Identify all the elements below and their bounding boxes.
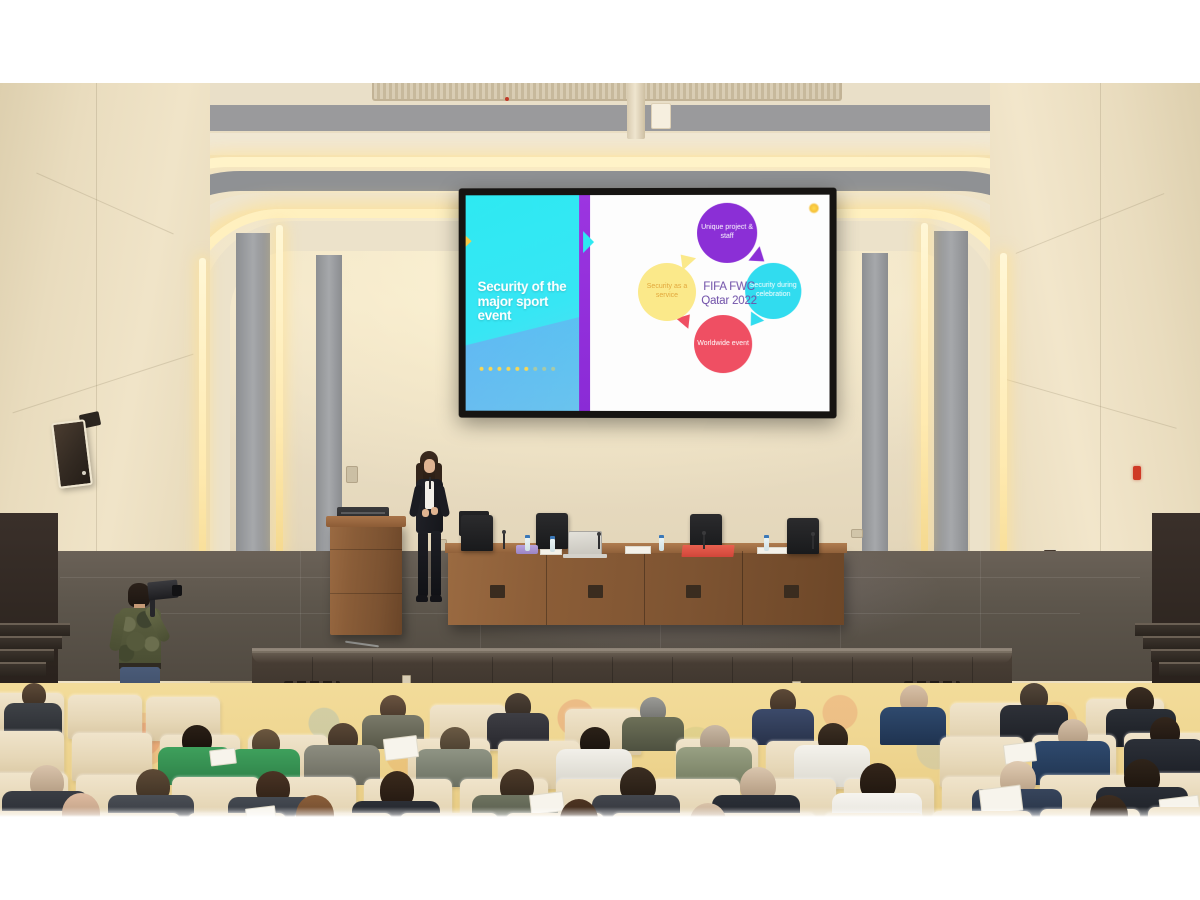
- mic-head-3-icon: [702, 531, 706, 535]
- mic-head-4-icon: [811, 532, 815, 536]
- water-bottle-2: [550, 539, 555, 552]
- lectern-top: [326, 516, 406, 527]
- panel-table: [448, 551, 844, 625]
- left-led-strip-inner: [276, 225, 283, 555]
- slide-center-label: FIFA FWC Qatar 2022: [686, 281, 772, 309]
- paper-stack-3: [757, 547, 787, 554]
- audience-body: [880, 707, 946, 745]
- table-microphone-3: [703, 534, 705, 549]
- audience-area: [0, 683, 1200, 817]
- table-microphone-4: [812, 535, 814, 549]
- auditorium-photo: Security of the major sport event Unique…: [0, 83, 1200, 817]
- table-panel-badge-4: [784, 585, 799, 598]
- screenshot-root: Security of the major sport event Unique…: [0, 0, 1200, 900]
- camera-lens-icon: [172, 585, 182, 596]
- panel-chair-4[interactable]: [787, 518, 819, 554]
- speaker-indicator-icon: [82, 471, 86, 475]
- wall-outlet-plate: [851, 529, 863, 538]
- slide-progress-dots: [480, 367, 556, 371]
- photo-bottom-edge: [0, 807, 1200, 817]
- presenter-leg-right: [431, 531, 441, 597]
- bottle-cap-4: [764, 535, 769, 538]
- slide-diagram: Unique project & staff Security during c…: [590, 195, 829, 412]
- right-pilaster-inner: [862, 253, 888, 587]
- presenter-microphone: [429, 477, 431, 489]
- water-bottle-4: [764, 538, 769, 551]
- bottle-cap-1: [525, 535, 530, 538]
- presenter-hand-left: [422, 509, 429, 517]
- table-panel-badge-1: [490, 585, 505, 598]
- slide-title: Security of the major sport event: [478, 280, 583, 324]
- audience-body: [622, 717, 684, 751]
- right-pilaster-outer: [934, 231, 968, 583]
- presenter-shoe-right: [430, 595, 442, 602]
- table-panel-badge-3: [686, 585, 701, 598]
- ceiling-sensor-box: [651, 103, 671, 129]
- panel-chair-1[interactable]: [461, 515, 493, 551]
- fire-alarm-icon: [1133, 466, 1141, 480]
- presenter-face: [424, 459, 435, 473]
- left-pilaster-outer: [236, 233, 270, 585]
- bubble-worldwide-event: Worldwide event: [694, 315, 752, 373]
- presentation-slide: Security of the major sport event Unique…: [466, 195, 830, 412]
- chevron-accent-yellow-icon: [466, 231, 472, 251]
- table-microphone-1: [503, 533, 505, 549]
- audience-paper: [383, 735, 419, 761]
- right-led-strip-inner: [921, 223, 928, 553]
- water-bottle-1: [525, 538, 530, 551]
- presenter-shoe-left: [416, 595, 428, 602]
- table-microphone-2: [598, 535, 600, 549]
- grille-indicator-icon: [505, 97, 509, 101]
- ceiling-projector-mount: [627, 83, 645, 139]
- table-panel-badge-2: [588, 585, 603, 598]
- bubble-unique-project-staff: Unique project & staff: [697, 203, 757, 263]
- mic-head-1-icon: [502, 530, 506, 534]
- audience-body: [752, 709, 814, 745]
- paper-stack-1: [625, 546, 651, 554]
- projection-screen[interactable]: Security of the major sport event Unique…: [459, 188, 837, 419]
- slide-corner-logo-icon: [808, 203, 819, 214]
- presenter-legs: [418, 531, 441, 597]
- bottle-cap-3: [659, 535, 664, 538]
- wall-control-plate: [346, 466, 358, 483]
- presenter-person: [409, 451, 449, 611]
- center-line-2: Qatar 2022: [686, 295, 772, 309]
- center-line-1: FIFA FWC: [686, 281, 772, 295]
- presenter-leg-left: [418, 531, 428, 597]
- laptop-keyboard[interactable]: [563, 554, 607, 558]
- audience-paper: [209, 747, 237, 766]
- chevron-accent-cyan-icon: [583, 231, 594, 253]
- bottle-cap-2: [550, 536, 555, 539]
- lectern: [330, 523, 402, 635]
- presenter-hand-right: [431, 507, 438, 515]
- water-bottle-3: [659, 538, 664, 551]
- ceiling-air-grille-icon: [372, 83, 842, 101]
- red-folder: [681, 545, 734, 557]
- mic-head-2-icon: [597, 532, 601, 536]
